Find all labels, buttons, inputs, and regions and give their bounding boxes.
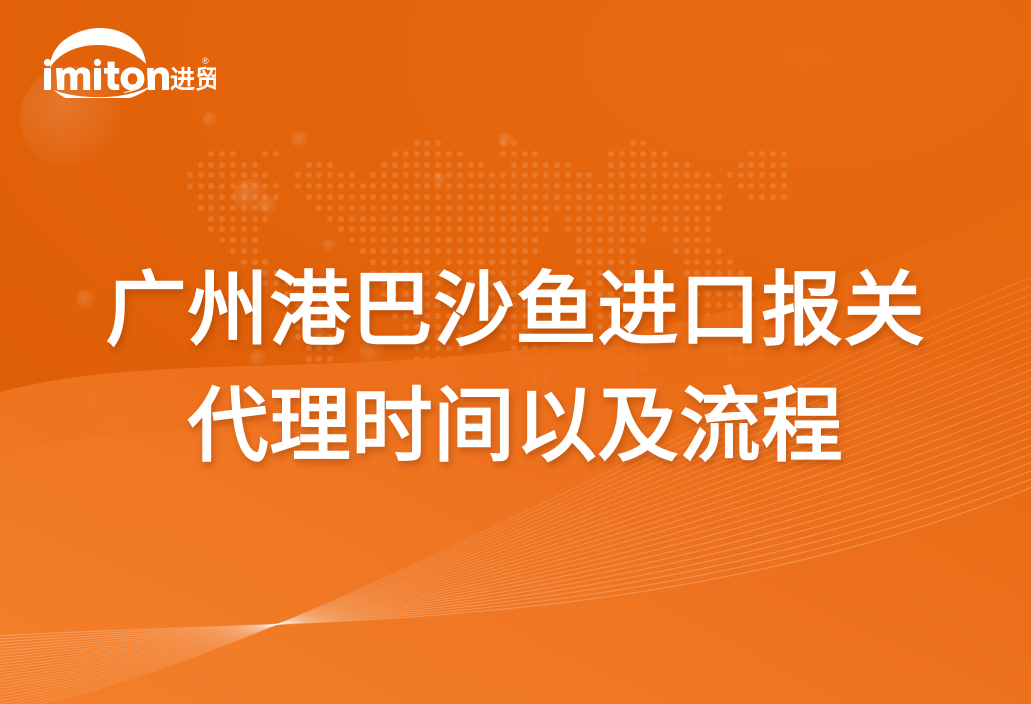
page-title-line-2: 代理时间以及流程	[0, 369, 1031, 485]
brand-logo[interactable]: 进贸通 ®	[38, 24, 216, 98]
title-block: 广州港巴沙鱼进口报关 代理时间以及流程	[0, 253, 1031, 485]
promo-banner: 进贸通 ® 广州港巴沙鱼进口报关 代理时间以及流程	[0, 0, 1031, 704]
logo-artwork: 进贸通 ®	[38, 24, 216, 98]
page-title-line-1: 广州港巴沙鱼进口报关	[0, 253, 1031, 369]
logo-trademark-symbol: ®	[202, 56, 209, 66]
logo-wordmark-shape	[44, 59, 169, 91]
logo-chinese-name: 进贸通	[170, 66, 216, 94]
